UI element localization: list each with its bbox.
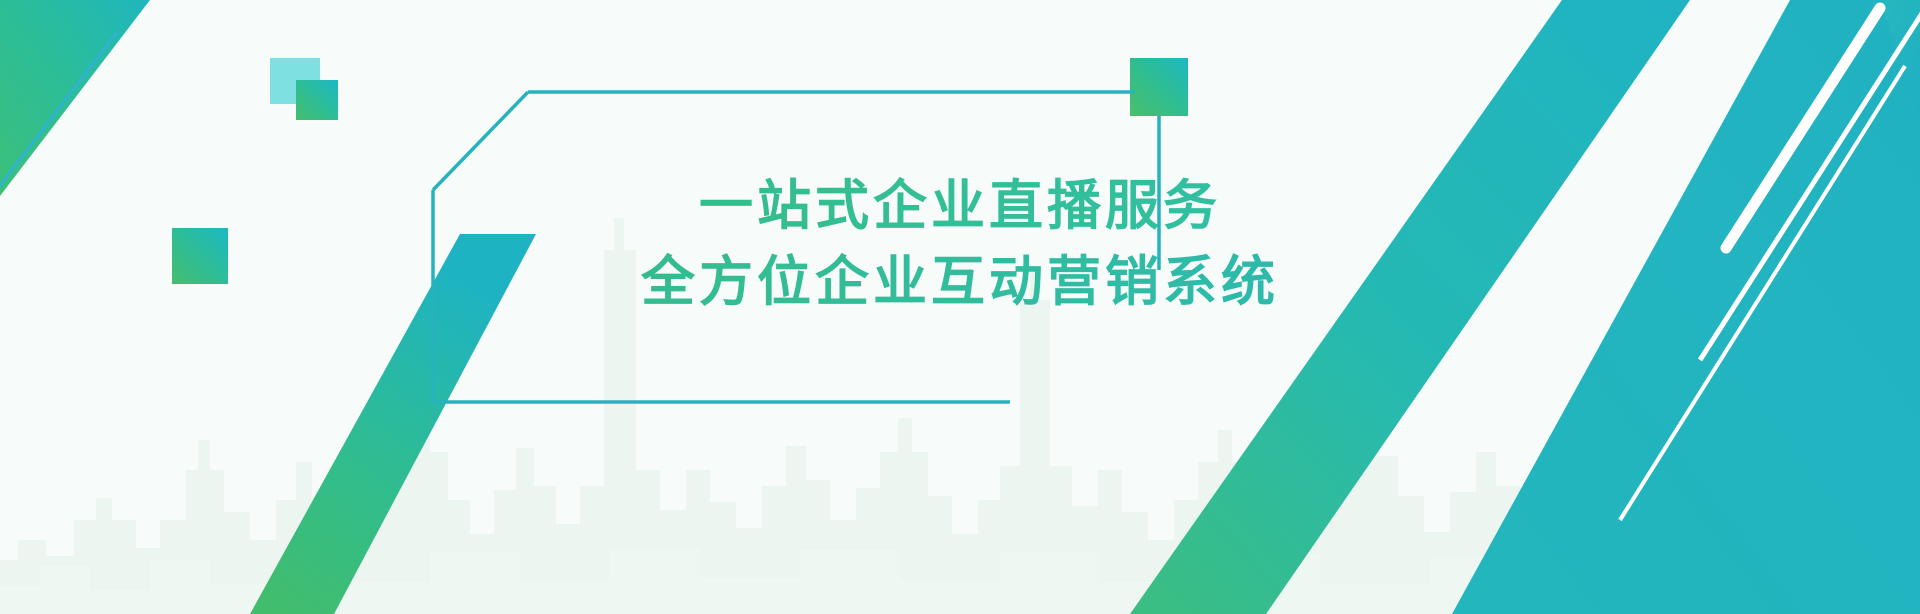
green-square-corner xyxy=(1130,58,1188,116)
green-square-small xyxy=(296,80,338,120)
green-square-left xyxy=(172,228,228,284)
banner-background-graphics xyxy=(0,0,1920,614)
promo-banner: 一站式企业直播服务 全方位企业互动营销系统 xyxy=(0,0,1920,614)
